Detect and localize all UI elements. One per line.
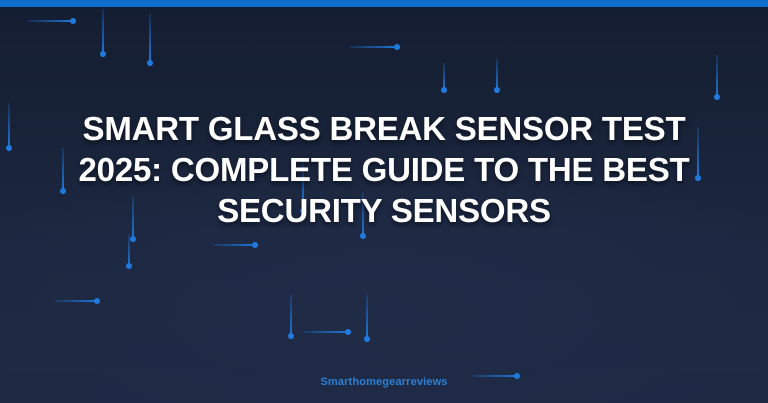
- deco-line-5-line: [443, 63, 444, 93]
- deco-line-18-dot: [364, 336, 370, 342]
- deco-line-14: [213, 242, 258, 248]
- deco-line-16-line: [55, 300, 100, 301]
- deco-line-3-dot: [394, 44, 400, 50]
- deco-line-2: [147, 14, 153, 66]
- deco-line-19-dot: [345, 329, 351, 335]
- deco-line-15-dot: [126, 263, 132, 269]
- deco-line-7-line: [716, 55, 717, 100]
- deco-line-6: [494, 58, 500, 93]
- deco-line-2-dot: [147, 60, 153, 66]
- deco-line-4-line: [102, 9, 103, 57]
- deco-line-18-line: [366, 294, 367, 342]
- deco-line-19-line: [303, 331, 351, 332]
- deco-line-14-line: [213, 244, 258, 245]
- deco-line-7-dot: [714, 94, 720, 100]
- deco-line-18: [364, 294, 370, 342]
- deco-line-3: [350, 44, 400, 50]
- deco-line-17-line: [290, 294, 291, 339]
- deco-line-16-dot: [94, 298, 100, 304]
- deco-line-15: [126, 234, 132, 269]
- deco-line-6-dot: [494, 87, 500, 93]
- deco-line-5: [441, 63, 447, 93]
- deco-line-19: [303, 329, 351, 335]
- deco-line-1-line: [28, 20, 76, 21]
- deco-line-15-line: [128, 234, 129, 269]
- deco-line-1-dot: [70, 18, 76, 24]
- deco-line-6-line: [496, 58, 497, 93]
- hero-banner: Smart Glass Break Sensor Test 2025: Comp…: [0, 0, 768, 403]
- deco-line-17-dot: [288, 333, 294, 339]
- site-watermark: Smarthomegearreviews: [0, 376, 768, 388]
- deco-line-17: [288, 294, 294, 339]
- deco-line-7: [714, 55, 720, 100]
- deco-line-2-line: [149, 14, 150, 66]
- deco-line-11-dot: [130, 236, 136, 242]
- deco-line-14-dot: [252, 242, 258, 248]
- deco-line-4: [100, 9, 106, 57]
- top-accent-bar: [0, 0, 768, 7]
- page-title: Smart Glass Break Sensor Test 2025: Comp…: [0, 108, 768, 231]
- deco-line-3-line: [350, 46, 400, 47]
- deco-line-4-dot: [100, 51, 106, 57]
- deco-line-1: [28, 18, 76, 24]
- deco-line-16: [55, 298, 100, 304]
- deco-line-5-dot: [441, 87, 447, 93]
- deco-line-13-dot: [360, 233, 366, 239]
